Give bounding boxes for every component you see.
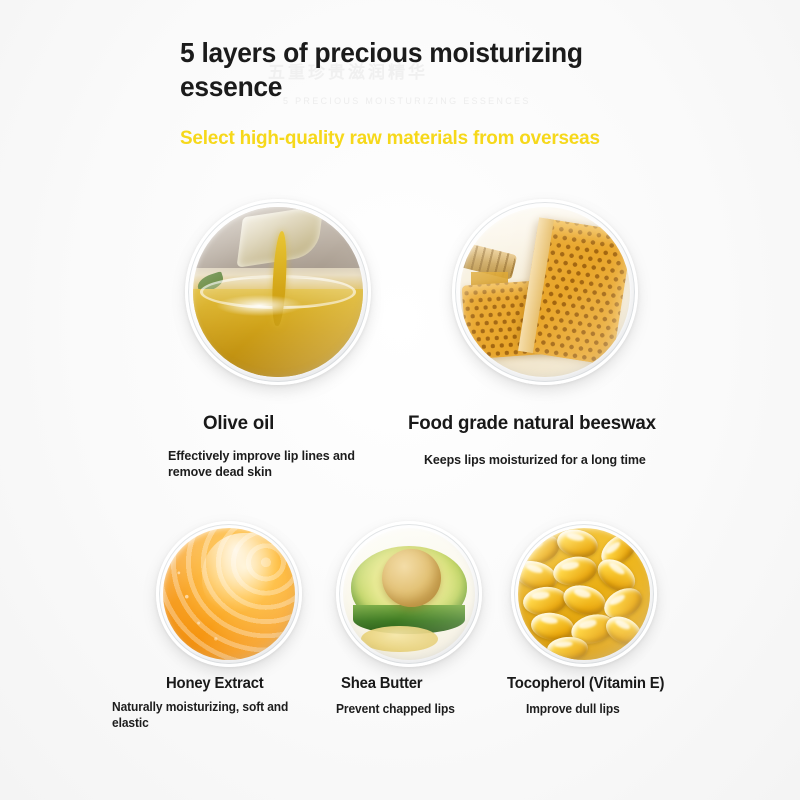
dish-media: [163, 528, 296, 661]
ingredient-image-beeswax: [452, 199, 638, 385]
ingredient-name-shea-butter: Shea Butter: [341, 675, 422, 693]
ingredient-description-beeswax: Keeps lips moisturized for a long time: [424, 452, 702, 468]
ingredient-description-honey-extract: Naturally moisturizing, soft and elastic: [112, 700, 314, 731]
page-title: 5 layers of precious moisturizing essenc…: [180, 36, 631, 103]
ingredient-image-olive-oil: [185, 199, 371, 385]
ingredient-description-olive-oil: Effectively improve lip lines and remove…: [168, 448, 384, 481]
ingredient-image-shea-butter: [336, 521, 482, 667]
dish-media: [343, 528, 476, 661]
header: 五重珍贵滋润精华 5 PRECIOUS MOISTURIZING ESSENCE…: [0, 0, 800, 170]
ingredient-name-olive-oil: Olive oil: [203, 412, 274, 435]
ingredient-name-tocopherol: Tocopherol (Vitamin E): [507, 675, 664, 693]
ingredient-name-honey-extract: Honey Extract: [166, 675, 264, 693]
honeycomb-artwork: [460, 207, 629, 376]
capsules-artwork: [518, 528, 651, 661]
ingredient-image-honey-extract: [156, 521, 302, 667]
dish-media: [518, 528, 651, 661]
ingredient-name-beeswax: Food grade natural beeswax: [408, 412, 656, 435]
dish-media: [460, 207, 629, 376]
infographic-page: 五重珍贵滋润精华 5 PRECIOUS MOISTURIZING ESSENCE…: [0, 0, 800, 800]
olive-oil-artwork: [193, 207, 362, 376]
ingredient-description-tocopherol: Improve dull lips: [526, 702, 708, 718]
dish-media: [193, 207, 362, 376]
avocado-artwork: [343, 528, 476, 661]
ingredient-image-tocopherol: [511, 521, 657, 667]
honey-artwork: [163, 528, 296, 661]
tagline: Select high-quality raw materials from o…: [180, 127, 600, 150]
ingredient-description-shea-butter: Prevent chapped lips: [336, 702, 518, 718]
